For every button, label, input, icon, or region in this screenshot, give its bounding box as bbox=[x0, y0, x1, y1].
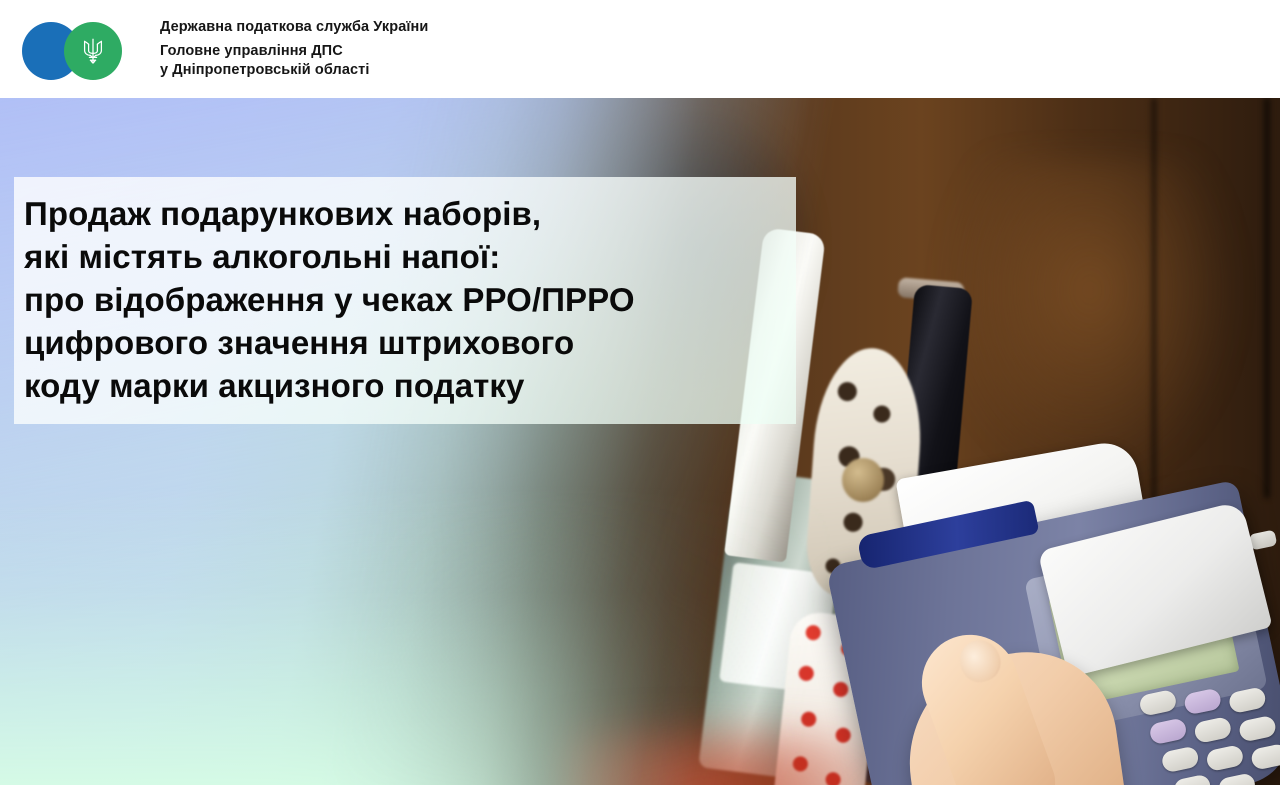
org-title: Державна податкова служба України bbox=[160, 18, 428, 38]
headline-panel: Продаж подарункових наборів, які містять… bbox=[14, 177, 796, 424]
dept-title-line1: Головне управління ДПС bbox=[160, 42, 428, 61]
logo[interactable] bbox=[22, 18, 140, 80]
logo-green-circle-icon bbox=[64, 22, 122, 80]
brand-gradient-bottom-fade bbox=[0, 485, 1280, 785]
headline-text: Продаж подарункових наборів, які містять… bbox=[14, 193, 635, 407]
ukraine-trident-icon bbox=[80, 36, 106, 66]
dept-title-line2: у Дніпропетровській області bbox=[160, 61, 428, 80]
site-header: Державна податкова служба України Головн… bbox=[0, 0, 1280, 98]
brand-text-block: Державна податкова служба України Головн… bbox=[160, 18, 428, 81]
page-root: Державна податкова служба України Головн… bbox=[0, 0, 1280, 785]
